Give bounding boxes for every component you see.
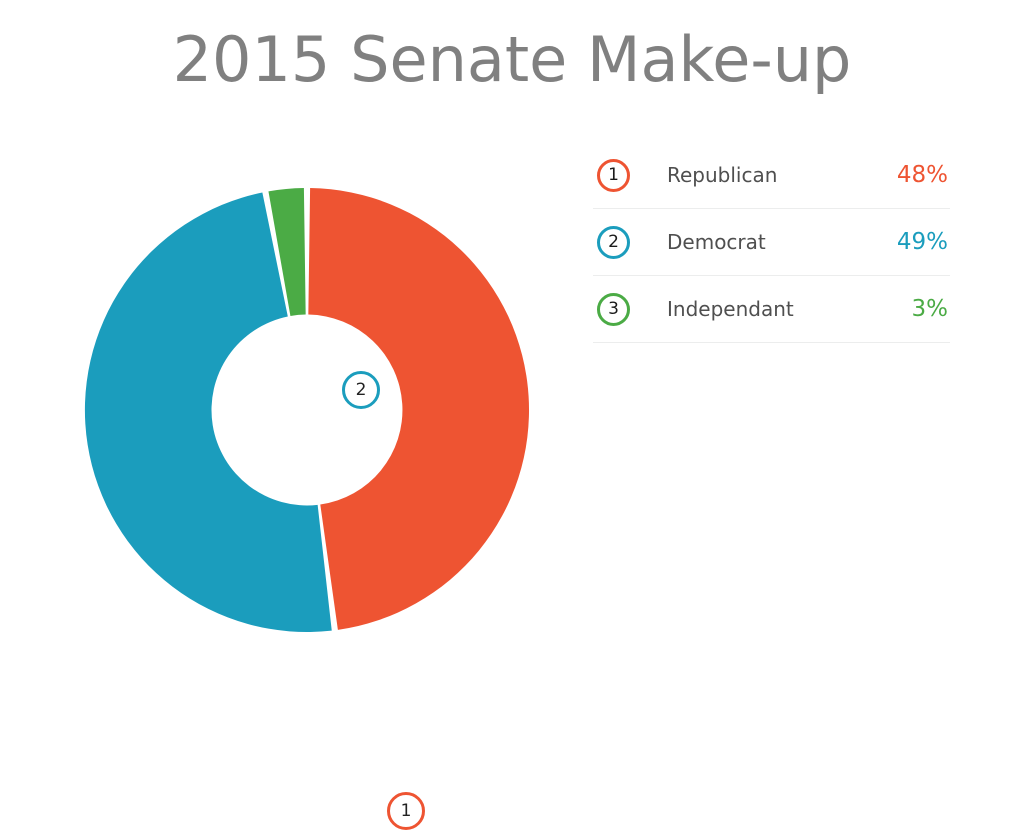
legend-value-democrat: 49% (897, 229, 950, 255)
callout-bubble-democrat[interactable]: 2 (342, 371, 380, 409)
donut-slice-republican[interactable] (308, 188, 529, 630)
callout-bubble-republican[interactable]: 1 (387, 792, 425, 830)
legend-marker-democrat-number: 2 (608, 232, 619, 252)
page-title: 2015 Senate Make-up (0, 26, 1024, 94)
donut-chart: 2 1 (85, 188, 529, 632)
legend-marker-republican: 1 (597, 159, 630, 192)
donut-chart-svg (85, 188, 529, 632)
callout-bubble-republican-label: 1 (401, 803, 412, 820)
legend-row-democrat[interactable]: 2 Democrat 49% (593, 209, 950, 276)
legend-label-democrat: Democrat (667, 230, 897, 254)
legend-row-independant[interactable]: 3 Independant 3% (593, 276, 950, 343)
callout-bubble-democrat-label: 2 (356, 382, 367, 399)
legend-label-independant: Independant (667, 297, 912, 321)
legend-marker-republican-number: 1 (608, 165, 619, 185)
legend-label-republican: Republican (667, 163, 897, 187)
legend: 1 Republican 48% 2 Democrat 49% 3 Indepe… (593, 142, 950, 343)
legend-row-republican[interactable]: 1 Republican 48% (593, 142, 950, 209)
legend-marker-independant: 3 (597, 293, 630, 326)
legend-value-republican: 48% (897, 162, 950, 188)
legend-value-independant: 3% (912, 296, 951, 322)
slide-canvas: 2015 Senate Make-up 2 1 1 Republican 48%… (0, 0, 1024, 768)
legend-marker-democrat: 2 (597, 226, 630, 259)
legend-marker-independant-number: 3 (608, 299, 619, 319)
